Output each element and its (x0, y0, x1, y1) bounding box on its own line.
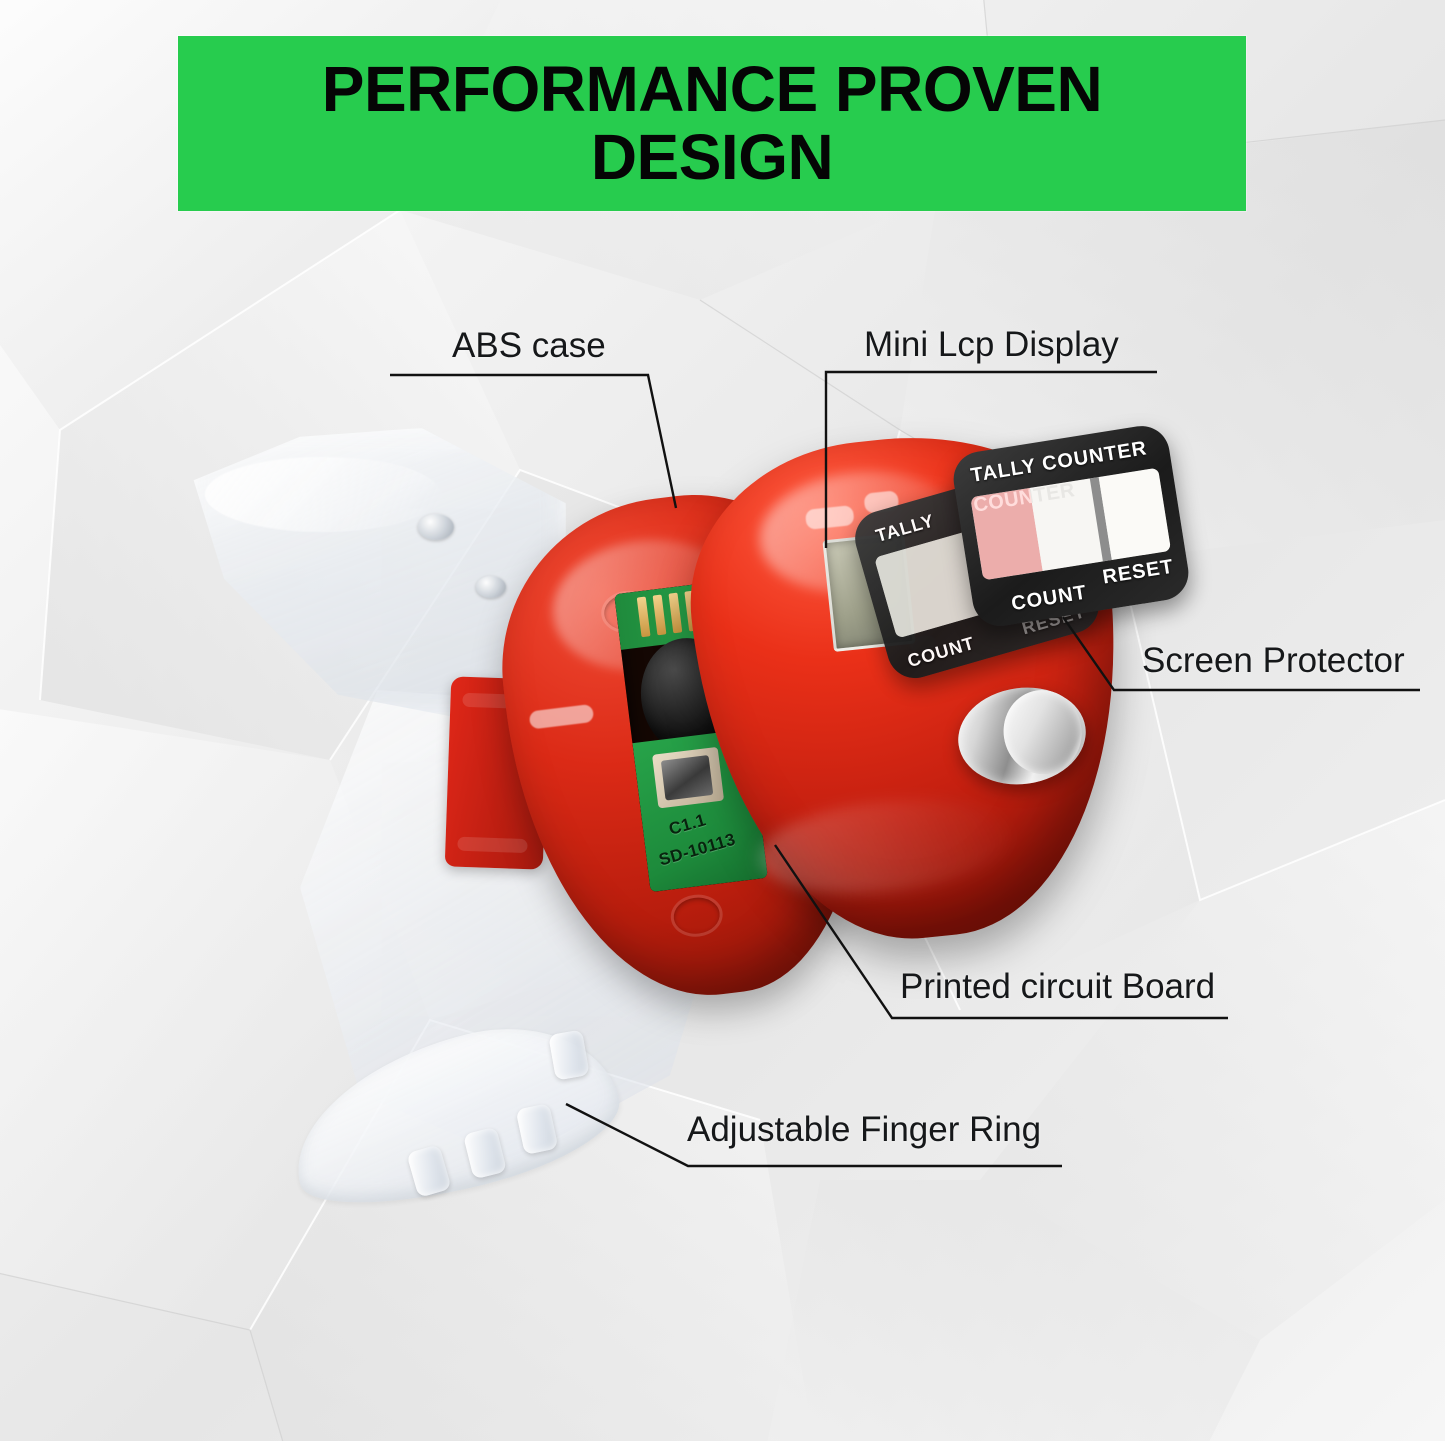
headline-line-1: PERFORMANCE PROVEN (322, 59, 1102, 120)
callout-label-printed-circuit-board: Printed circuit Board (900, 969, 1215, 1006)
pcb-marking-line1: C1.1 (667, 810, 709, 840)
callout-label-abs-case: ABS case (452, 328, 606, 365)
infographic-canvas: C1.1 SD-10113 TALLY (0, 0, 1445, 1441)
callout-label-adjustable-finger-ring: Adjustable Finger Ring (687, 1112, 1041, 1149)
strap-rivet-1 (418, 514, 454, 540)
pcb-gold-pin (637, 596, 651, 637)
headline-line-2: DESIGN (591, 127, 833, 188)
screen-protector-front: TALLY COUNTER COUNTER COUNT RESET (950, 422, 1193, 630)
pcb-switch-metal-dome (661, 755, 714, 801)
strap-rivet-2 (476, 576, 506, 598)
pcb-marking-line2: SD-10113 (657, 830, 738, 871)
callout-label-screen-protector: Screen Protector (1142, 643, 1405, 680)
protector-front-reset-text: RESET (1101, 556, 1175, 590)
pcb-gold-pin (668, 593, 682, 634)
pcb-tact-switch (652, 747, 724, 809)
screw-boss-bottom (668, 892, 725, 940)
pcb-gold-pin (653, 595, 667, 636)
shell-rear-vent (529, 704, 595, 730)
callout-label-mini-lcp-display: Mini Lcp Display (864, 327, 1119, 364)
window-segment (1098, 468, 1171, 560)
product-exploded-view: C1.1 SD-10113 TALLY (0, 0, 1445, 1441)
headline-banner: PERFORMANCE PROVEN DESIGN (178, 36, 1246, 211)
protector-front-count-text: COUNT (1010, 581, 1089, 616)
